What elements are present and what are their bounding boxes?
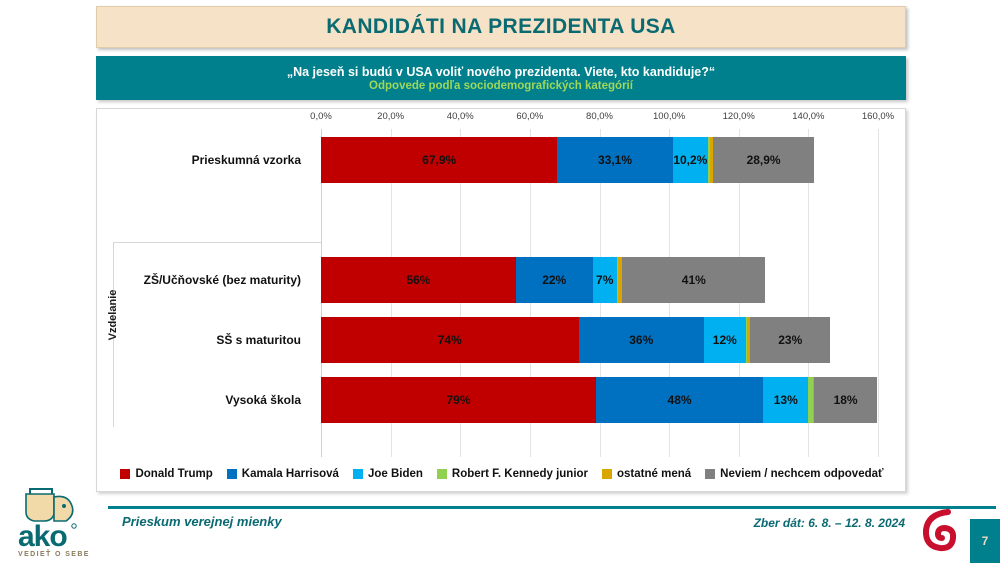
- page-number-badge: 7: [970, 519, 1000, 563]
- legend-item[interactable]: Robert F. Kennedy junior: [437, 468, 588, 480]
- x-axis-tick-labels: 0,0%20,0%40,0%60,0%80,0%100,0%120,0%140,…: [97, 111, 905, 127]
- legend-swatch-icon: [602, 469, 612, 479]
- bar-segment: 23%: [750, 317, 830, 363]
- legend-label: ostatné mená: [617, 468, 691, 480]
- page-badge-notch: [958, 519, 970, 533]
- bar-segment: 13%: [763, 377, 808, 423]
- bar-segment: 41%: [622, 257, 765, 303]
- legend-item[interactable]: Kamala Harrisová: [227, 468, 339, 480]
- stacked-bar: 79%48%13%18%: [321, 377, 877, 423]
- x-axis-tick-label: 80,0%: [586, 111, 613, 122]
- footer-divider: [108, 506, 996, 509]
- page-title: KANDIDÁTI NA PREZIDENTA USA: [326, 15, 676, 39]
- chart-row: Prieskumná vzorka67,9%33,1%10,2%28,9%: [97, 137, 905, 183]
- legend-swatch-icon: [120, 469, 130, 479]
- chart-plot-area: 0,0%20,0%40,0%60,0%80,0%100,0%120,0%140,…: [97, 109, 905, 491]
- ako-logo-icon: ako VEDIEŤ O SEBE: [14, 488, 110, 560]
- legend-swatch-icon: [353, 469, 363, 479]
- x-axis-tick-label: 140,0%: [792, 111, 824, 122]
- svg-text:VEDIEŤ O SEBE: VEDIEŤ O SEBE: [18, 549, 90, 558]
- chart-row-label: ZŠ/Učňovské (bez maturity): [97, 257, 311, 303]
- stacked-bar: 56%22%7%41%: [321, 257, 765, 303]
- x-axis-tick-label: 20,0%: [377, 111, 404, 122]
- chart-row: ZŠ/Učňovské (bez maturity)56%22%7%41%: [97, 257, 905, 303]
- x-axis-tick-label: 160,0%: [862, 111, 894, 122]
- legend-label: Neviem / nechcem odpovedať: [720, 468, 883, 480]
- x-axis-tick-label: 60,0%: [516, 111, 543, 122]
- ako-logo: ako VEDIEŤ O SEBE: [14, 488, 110, 560]
- slide-title-bar: KANDIDÁTI NA PREZIDENTA USA: [96, 6, 906, 48]
- bar-segment: 18%: [814, 377, 877, 423]
- legend-swatch-icon: [437, 469, 447, 479]
- stacked-bar: 74%36%12%23%: [321, 317, 830, 363]
- stacked-bar: 67,9%33,1%10,2%28,9%: [321, 137, 814, 183]
- slide: KANDIDÁTI NA PREZIDENTA USA „Na jeseň si…: [0, 0, 1000, 563]
- chart-row-label: SŠ s maturitou: [97, 317, 311, 363]
- legend-label: Kamala Harrisová: [242, 468, 339, 480]
- legend-label: Robert F. Kennedy junior: [452, 468, 588, 480]
- bar-segment: 7%: [593, 257, 617, 303]
- footer-left-text: Prieskum verejnej mienky: [122, 514, 282, 529]
- legend-label: Donald Trump: [135, 468, 212, 480]
- svg-text:ako: ako: [18, 520, 67, 553]
- brand-spiral-icon: [918, 508, 962, 552]
- legend-item[interactable]: Joe Biden: [353, 468, 423, 480]
- bar-segment: 67,9%: [321, 137, 557, 183]
- legend-item[interactable]: Donald Trump: [120, 468, 212, 480]
- bar-segment: 56%: [321, 257, 516, 303]
- chart-row: SŠ s maturitou74%36%12%23%: [97, 317, 905, 363]
- chart-row-label: Vysoká škola: [97, 377, 311, 423]
- bar-segment: 10,2%: [673, 137, 709, 183]
- x-axis-tick-label: 100,0%: [653, 111, 685, 122]
- x-axis-tick-label: 0,0%: [310, 111, 332, 122]
- chart-row: Vysoká škola79%48%13%18%: [97, 377, 905, 423]
- footer-right-text: Zber dát: 6. 8. – 12. 8. 2024: [754, 516, 905, 530]
- chart-panel: 0,0%20,0%40,0%60,0%80,0%100,0%120,0%140,…: [96, 108, 906, 492]
- legend-swatch-icon: [705, 469, 715, 479]
- group-bracket-top-line: [113, 242, 321, 243]
- bar-segment: 36%: [579, 317, 704, 363]
- survey-question: „Na jeseň si budú v USA voliť nového pre…: [287, 65, 715, 79]
- bar-segment: 22%: [516, 257, 593, 303]
- legend-item[interactable]: Neviem / nechcem odpovedať: [705, 468, 883, 480]
- bar-segment: 12%: [704, 317, 746, 363]
- bar-segment: 79%: [321, 377, 596, 423]
- chart-row-label: Prieskumná vzorka: [97, 137, 311, 183]
- bar-segment: 48%: [596, 377, 763, 423]
- x-axis-tick-label: 40,0%: [447, 111, 474, 122]
- legend-swatch-icon: [227, 469, 237, 479]
- legend-label: Joe Biden: [368, 468, 423, 480]
- bar-segment: 28,9%: [713, 137, 814, 183]
- bar-segment: 33,1%: [557, 137, 672, 183]
- survey-subnote: Odpovede podľa sociodemografických kateg…: [369, 80, 633, 92]
- bar-segment: 74%: [321, 317, 579, 363]
- chart-legend: Donald TrumpKamala HarrisováJoe BidenRob…: [105, 463, 899, 485]
- legend-item[interactable]: ostatné mená: [602, 468, 691, 480]
- subtitle-band: „Na jeseň si budú v USA voliť nového pre…: [96, 56, 906, 100]
- x-axis-tick-label: 120,0%: [723, 111, 755, 122]
